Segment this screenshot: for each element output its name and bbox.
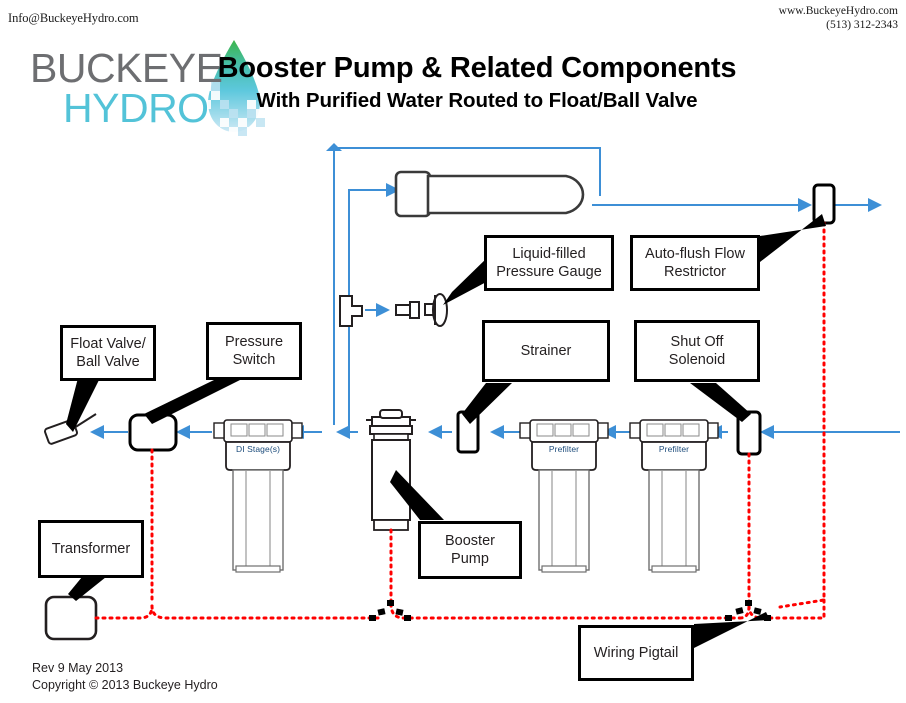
callout-booster-pump-line1: Booster: [445, 532, 495, 550]
callout-float-ball-valve-line2: Ball Valve: [70, 353, 146, 371]
callout-restrictor-line2: Restrictor: [645, 263, 745, 281]
callout-solenoid-line1: Shut Off: [669, 333, 725, 351]
callout-float-ball-valve[interactable]: Float Valve/ Ball Valve: [60, 325, 156, 381]
callout-pressure-switch-line1: Pressure: [225, 333, 283, 351]
callout-shut-off-solenoid[interactable]: Shut Off Solenoid: [634, 320, 760, 382]
callout-strainer[interactable]: Strainer: [482, 320, 610, 382]
callout-pressure-switch[interactable]: Pressure Switch: [206, 322, 302, 380]
callout-liquid-filled-pressure-gauge[interactable]: Liquid-filled Pressure Gauge: [484, 235, 614, 291]
callout-wiring-pigtail-line1: Wiring Pigtail: [594, 644, 679, 662]
callout-float-ball-valve-line1: Float Valve/: [70, 335, 146, 353]
callout-gauge-line2: Pressure Gauge: [496, 263, 602, 281]
callout-transformer[interactable]: Transformer: [38, 520, 144, 578]
diagram-page: Info@BuckeyeHydro.com www.BuckeyeHydro.c…: [0, 0, 906, 703]
callout-booster-pump-line2: Pump: [445, 550, 495, 568]
callout-wiring-pigtail[interactable]: Wiring Pigtail: [578, 625, 694, 681]
callout-transformer-line1: Transformer: [52, 540, 130, 558]
callout-solenoid-line2: Solenoid: [669, 351, 725, 369]
callout-gauge-line1: Liquid-filled: [496, 245, 602, 263]
callout-strainer-line1: Strainer: [521, 342, 572, 360]
callout-restrictor-line1: Auto-flush Flow: [645, 245, 745, 263]
callout-booster-pump[interactable]: Booster Pump: [418, 521, 522, 579]
callout-pressure-switch-line2: Switch: [225, 351, 283, 369]
callout-auto-flush-flow-restrictor[interactable]: Auto-flush Flow Restrictor: [630, 235, 760, 291]
